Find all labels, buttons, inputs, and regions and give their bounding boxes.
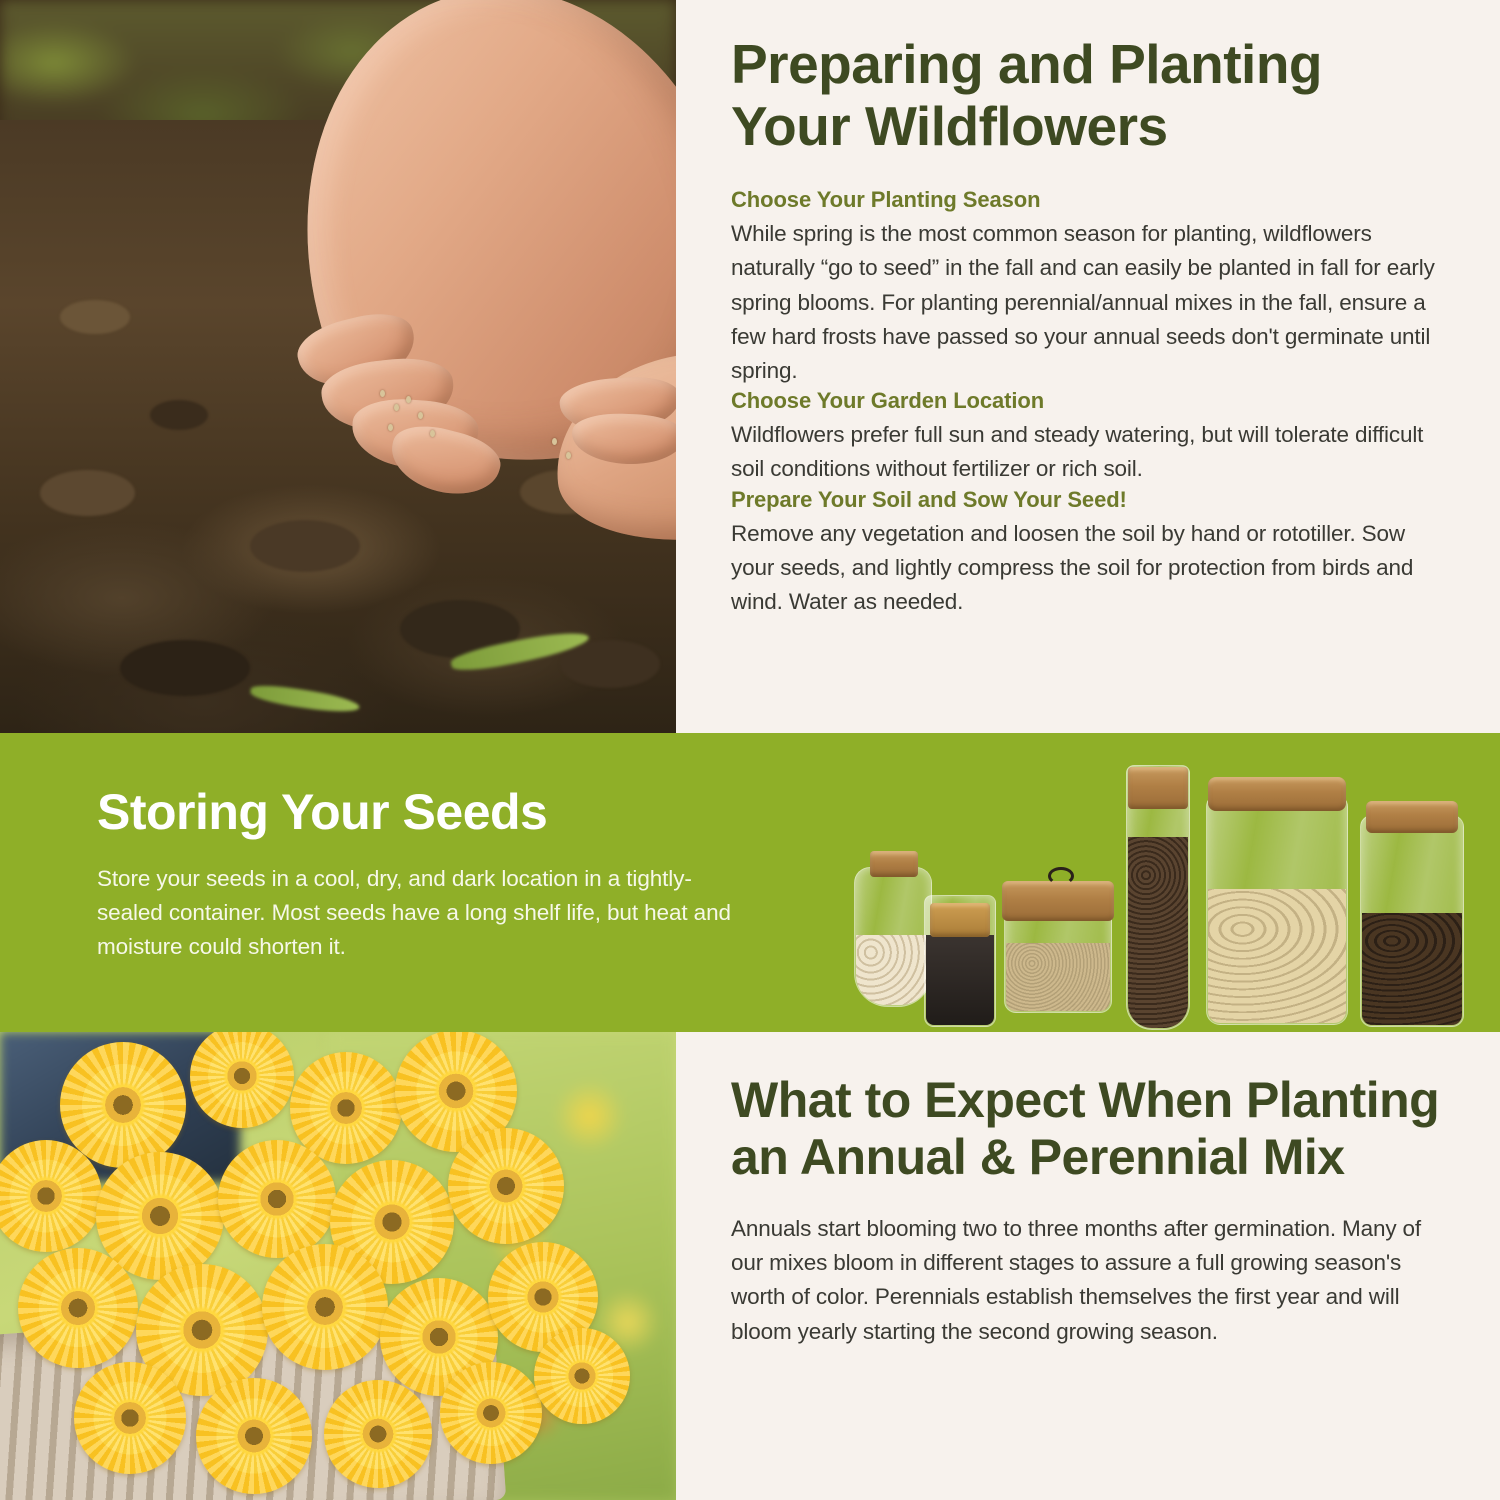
storing-seeds-title: Storing Your Seeds: [97, 785, 757, 840]
jar-tall-dark-seeds: [1126, 765, 1190, 1030]
subsection-prepare-soil: Prepare Your Soil and Sow Your Seed! Rem…: [731, 487, 1452, 620]
section-storing-your-seeds: Storing Your Seeds Store your seeds in a…: [0, 733, 1500, 1032]
body-prepare-soil: Remove any vegetation and loosen the soi…: [731, 517, 1452, 620]
subheading-prepare-soil: Prepare Your Soil and Sow Your Seed!: [731, 487, 1452, 513]
jar-sunflower-seeds: [1360, 815, 1464, 1027]
subsection-planting-season: Choose Your Planting Season While spring…: [731, 187, 1452, 388]
infographic-page: Preparing and Planting Your Wildflowers …: [0, 0, 1500, 1500]
photo-seed-jars: [846, 745, 1500, 1032]
top-text-column: Preparing and Planting Your Wildflowers …: [676, 0, 1500, 733]
body-garden-location: Wildflowers prefer full sun and steady w…: [731, 418, 1452, 486]
jar-black-seeds: [924, 895, 996, 1027]
subsection-garden-location: Choose Your Garden Location Wildflowers …: [731, 388, 1452, 486]
page-title: Preparing and Planting Your Wildflowers: [731, 34, 1452, 157]
what-to-expect-title: What to Expect When Planting an Annual &…: [731, 1072, 1440, 1186]
green-band-text: Storing Your Seeds Store your seeds in a…: [97, 785, 757, 963]
jar-pumpkin-seeds: [1206, 793, 1348, 1025]
section-what-to-expect: What to Expect When Planting an Annual &…: [0, 1032, 1500, 1500]
body-planting-season: While spring is the most common season f…: [731, 217, 1452, 388]
section-preparing-and-planting: Preparing and Planting Your Wildflowers …: [0, 0, 1500, 733]
jar-white-beans: [854, 867, 932, 1007]
subheading-garden-location: Choose Your Garden Location: [731, 388, 1452, 414]
storing-seeds-body: Store your seeds in a cool, dry, and dar…: [97, 862, 757, 963]
photo-yellow-zinnias-basket: [0, 1032, 676, 1500]
jar-lid-loop: [1048, 867, 1074, 885]
bottom-text-column: What to Expect When Planting an Annual &…: [676, 1032, 1500, 1500]
what-to-expect-body: Annuals start blooming two to three mont…: [731, 1212, 1440, 1349]
jar-fine-tan-seed: [1004, 885, 1112, 1013]
photo-hands-planting-seeds: [0, 0, 676, 733]
subheading-planting-season: Choose Your Planting Season: [731, 187, 1452, 213]
